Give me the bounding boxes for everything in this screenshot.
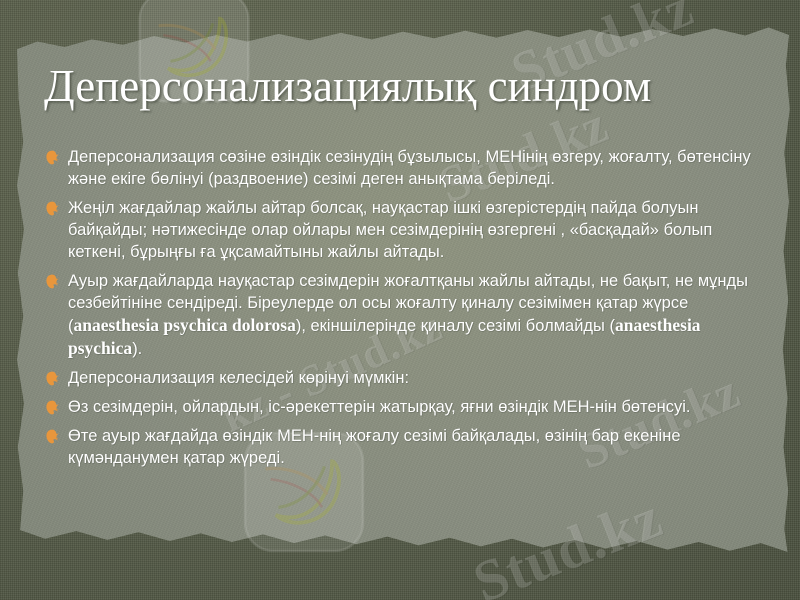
page-title: Деперсонализациялық синдром <box>44 62 758 110</box>
leaf-bullet-icon <box>46 371 59 386</box>
list-item-text: Жеңіл жағдайлар жайлы айтар болсақ, науқ… <box>68 197 768 263</box>
leaf-bullet-icon <box>46 274 59 289</box>
text-run: Деперсонализация келесідей көрінуі мүмкі… <box>68 369 409 387</box>
leaf-bullet-icon <box>46 150 59 165</box>
text-run: ). <box>132 340 142 358</box>
list-item-text: Өте ауыр жағдайда өзіндік МЕН-нің жоғалу… <box>68 425 768 469</box>
list-item: Деперсонализация келесідей көрінуі мүмкі… <box>46 367 768 389</box>
leaf-bullet-icon <box>46 146 68 165</box>
list-item: Жеңіл жағдайлар жайлы айтар болсақ, науқ… <box>46 197 768 263</box>
text-run: ), екіншілерінде қиналу сезімі болмайды … <box>296 317 615 335</box>
text-run: Жеңіл жағдайлар жайлы айтар болсақ, науқ… <box>68 199 712 261</box>
list-item: Өз сезімдерін, ойлардын, іс-әрекеттерін … <box>46 396 768 418</box>
leaf-bullet-icon <box>46 367 68 386</box>
list-item-text: Деперсонализация сөзіне өзіндік сезінуді… <box>68 146 768 190</box>
leaf-bullet-icon <box>46 425 68 444</box>
leaf-bullet-icon <box>46 270 68 289</box>
list-item: Өте ауыр жағдайда өзіндік МЕН-нің жоғалу… <box>46 425 768 469</box>
list-item-text: Деперсонализация келесідей көрінуі мүмкі… <box>68 367 768 389</box>
list-item-text: Ауыр жағдайларда науқастар сезімдерін жо… <box>68 270 768 360</box>
slide-content: Деперсонализациялық синдром Деперсонализ… <box>0 0 800 600</box>
list-item: Деперсонализация сөзіне өзіндік сезінуді… <box>46 146 768 190</box>
list-item: Ауыр жағдайларда науқастар сезімдерін жо… <box>46 270 768 360</box>
text-run: Өз сезімдерін, ойлардын, іс-әрекеттерін … <box>68 398 691 416</box>
leaf-bullet-icon <box>46 400 59 415</box>
leaf-bullet-icon <box>46 197 68 216</box>
text-run: Деперсонализация сөзіне өзіндік сезінуді… <box>68 148 751 188</box>
bullet-list: Деперсонализация сөзіне өзіндік сезінуді… <box>46 146 768 476</box>
latin-term: anaesthesia psychica dolorosa <box>74 315 296 335</box>
leaf-bullet-icon <box>46 201 59 216</box>
text-run: Өте ауыр жағдайда өзіндік МЕН-нің жоғалу… <box>68 427 681 467</box>
leaf-bullet-icon <box>46 429 59 444</box>
slide: Stud.kz kz - Stud.kz Stud.kz Stud.kz Stu… <box>0 0 800 600</box>
list-item-text: Өз сезімдерін, ойлардын, іс-әрекеттерін … <box>68 396 768 418</box>
leaf-bullet-icon <box>46 396 68 415</box>
